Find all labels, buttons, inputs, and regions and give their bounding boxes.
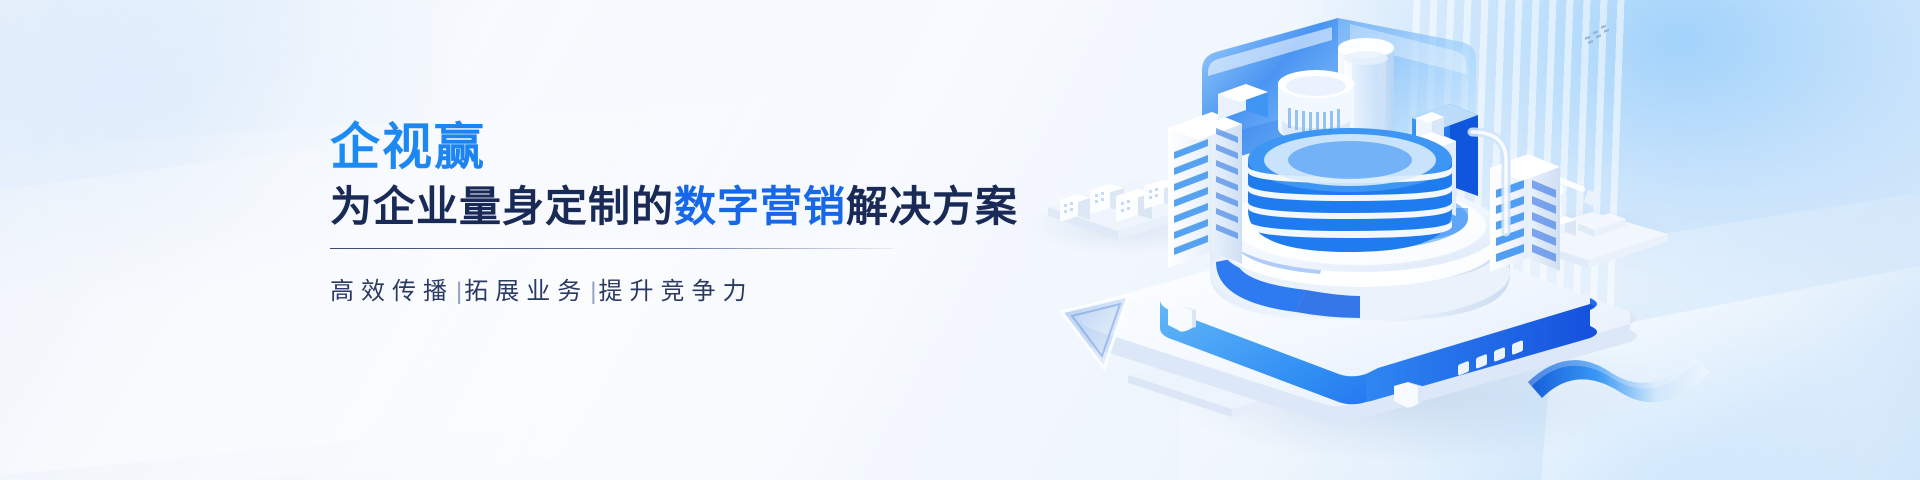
page-title: 为企业量身定制的数字营销解决方案 xyxy=(330,182,950,232)
tagline: 高效传播|拓展业务|提升竞争力 xyxy=(330,271,950,306)
tagline-separator-2: | xyxy=(588,278,598,305)
tagline-item-3: 提升竞争力 xyxy=(598,278,753,305)
headline-part-1: 为企业量身定制的 xyxy=(330,183,674,230)
hero-banner: 企视赢 为企业量身定制的数字营销解决方案 高效传播|拓展业务|提升竞争力 xyxy=(0,0,1920,480)
tagline-item-1: 高效传播 xyxy=(330,278,454,305)
headline-part-2: 解决方案 xyxy=(846,183,1018,230)
tagline-separator-1: | xyxy=(454,278,464,305)
tower-right xyxy=(1490,154,1560,272)
data-ring-building xyxy=(1248,128,1452,252)
tagline-item-2: 拓展业务 xyxy=(464,278,588,305)
headline-highlight: 数字营销 xyxy=(674,183,846,230)
hero-copy: 企视赢 为企业量身定制的数字营销解决方案 高效传播|拓展业务|提升竞争力 xyxy=(330,120,950,306)
brand-name: 企视赢 xyxy=(330,120,950,174)
control-panel xyxy=(1578,25,1626,237)
isometric-city-illustration xyxy=(1020,0,1920,480)
divider xyxy=(330,248,894,249)
